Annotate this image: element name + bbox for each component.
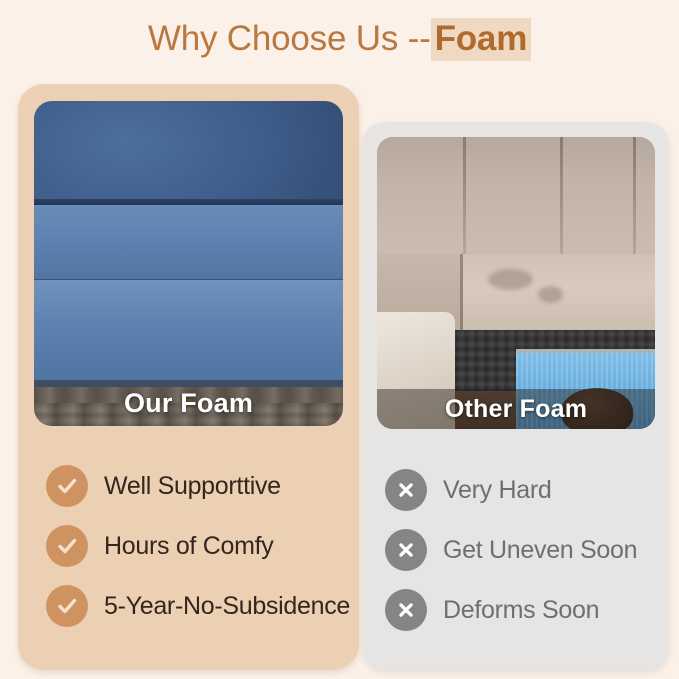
photo-backrest-cushion [34, 101, 343, 208]
other-foam-photo: Other Foam [377, 137, 655, 429]
feature-label: Hours of Comfy [104, 532, 273, 561]
our-foam-photo-image [34, 101, 343, 426]
check-circle-icon [46, 465, 88, 507]
feature-row: Well Supporttive [46, 456, 359, 516]
our-foam-feature-list: Well Supporttive Hours of Comfy 5-Year-N… [18, 456, 359, 636]
feature-label: Deforms Soon [443, 596, 599, 625]
x-circle-icon [385, 469, 427, 511]
comparison-panel-our-foam: Our Foam Well Supporttive Hours of Comfy [18, 84, 359, 670]
photo-seat-cushion-upper [34, 205, 343, 283]
page-title-accent: Foam [431, 18, 532, 61]
feature-label: Get Uneven Soon [443, 536, 637, 565]
feature-label: Very Hard [443, 476, 551, 505]
feature-label: 5-Year-No-Subsidence [104, 592, 350, 621]
page-title-plain: Why Choose Us -- [148, 19, 431, 58]
feature-row: 5-Year-No-Subsidence [46, 576, 359, 636]
feature-row: Deforms Soon [385, 580, 669, 640]
check-circle-icon [46, 585, 88, 627]
our-foam-caption: Our Foam [34, 380, 343, 426]
page-title: Why Choose Us --Foam [0, 19, 679, 59]
feature-label: Well Supporttive [104, 472, 281, 501]
photo-seat-cushion-front [34, 280, 343, 394]
feature-row: Hours of Comfy [46, 516, 359, 576]
photo-backrest-cushions [377, 137, 655, 260]
comparison-panel-other-foam: Other Foam Very Hard Get Uneven Soon [363, 122, 669, 670]
our-foam-photo: Our Foam [34, 101, 343, 426]
other-foam-caption: Other Foam [377, 389, 655, 429]
check-circle-icon [46, 525, 88, 567]
feature-row: Very Hard [385, 460, 669, 520]
feature-row: Get Uneven Soon [385, 520, 669, 580]
other-foam-feature-list: Very Hard Get Uneven Soon Deforms Soon [363, 460, 669, 640]
x-circle-icon [385, 529, 427, 571]
x-circle-icon [385, 589, 427, 631]
other-foam-photo-image [377, 137, 655, 429]
